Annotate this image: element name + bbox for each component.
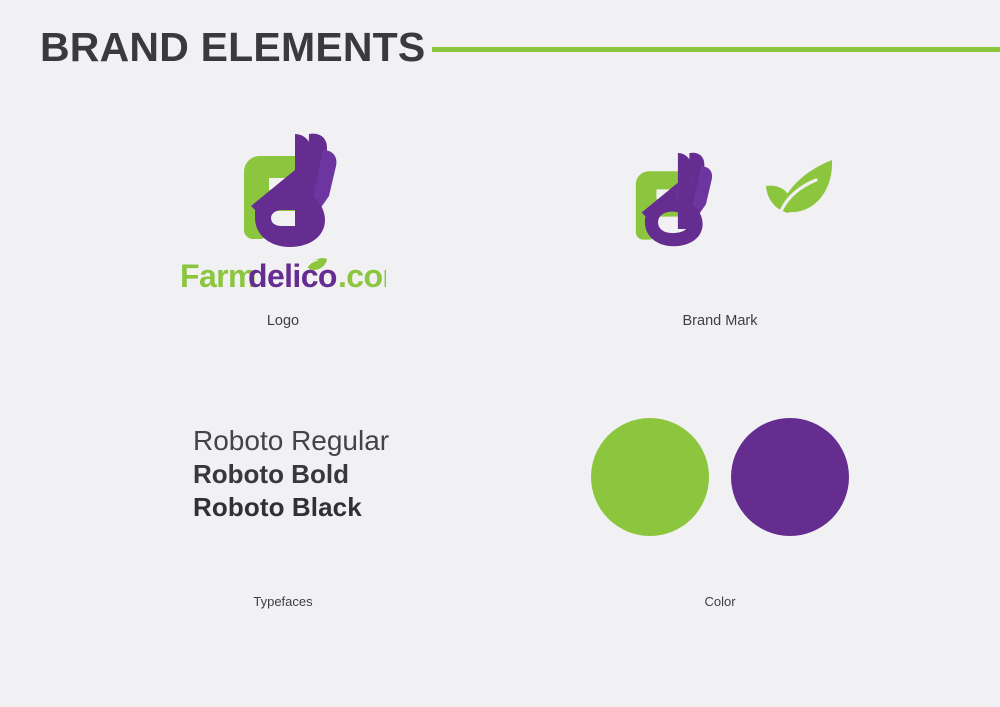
typeface-sample-black: Roboto Black [193, 491, 389, 524]
logo-cell: Farm delico .com Logo [108, 110, 458, 340]
brand-mark-caption: Brand Mark [545, 312, 895, 330]
wordmark-green-1: Farm [180, 258, 256, 294]
slide-header: BRAND ELEMENTS [0, 0, 1000, 100]
typeface-sample-list: Roboto Regular Roboto Bold Roboto Black [193, 424, 389, 524]
typefaces-caption: Typefaces [108, 593, 458, 611]
brand-mark-cell: Brand Mark [545, 110, 895, 340]
logo-lockup: Farm delico .com [178, 110, 388, 298]
color-swatch-row [591, 418, 849, 536]
brand-mark-row [602, 132, 838, 250]
typeface-sample-regular: Roboto Regular [193, 424, 389, 458]
logo-wordmark-wrap: Farm delico .com [178, 256, 388, 298]
logo-mark-wrap [178, 110, 388, 250]
logo-caption: Logo [108, 312, 458, 330]
fd-monogram-icon [203, 110, 363, 250]
page-title: BRAND ELEMENTS [40, 21, 425, 73]
typefaces-cell: Roboto Regular Roboto Bold Roboto Black … [108, 410, 458, 630]
color-swatch-green [591, 418, 709, 536]
color-cell: Color [545, 410, 895, 630]
fd-monogram-icon [602, 132, 734, 250]
color-swatch-purple [731, 418, 849, 536]
wordmark-green-2: .com [338, 258, 386, 294]
logo-wordmark: Farm delico .com [180, 256, 386, 298]
svg-text:Farm: Farm [180, 258, 256, 294]
leaf-icon [760, 154, 838, 228]
svg-text:.com: .com [338, 258, 386, 294]
color-caption: Color [545, 593, 895, 611]
title-divider-rule [432, 47, 1000, 52]
slide-canvas: BRAND ELEMENTS [0, 0, 1000, 707]
typeface-sample-bold: Roboto Bold [193, 458, 389, 491]
